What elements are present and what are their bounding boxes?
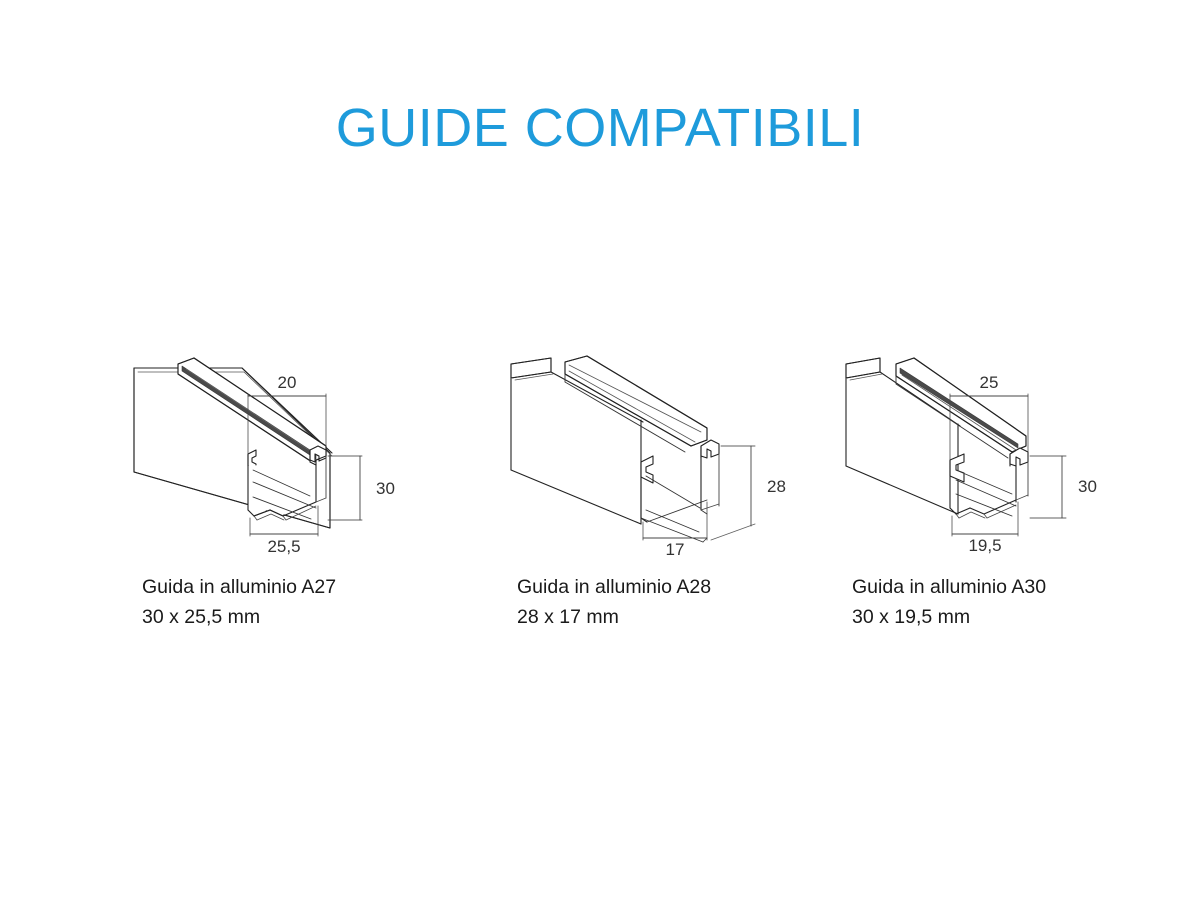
dimension-height-a30: [1030, 456, 1066, 518]
dimension-width-a28: [643, 502, 707, 540]
dimension-label-top-a27: 20: [278, 373, 297, 392]
product-name-a28: Guida in alluminio A28: [517, 572, 857, 602]
dimension-width-a30: [952, 502, 1018, 536]
dimension-label-height-a28: 28: [767, 477, 786, 496]
product-name-a27: Guida in alluminio A27: [142, 572, 482, 602]
dimension-label-height-a30: 30: [1078, 477, 1097, 496]
product-caption-a28: Guida in alluminio A28 28 x 17 mm: [517, 572, 857, 632]
dimension-label-width-a27: 25,5: [267, 537, 300, 555]
product-item-a28: 28 17 Guida in alluminio A28 28 x 17 mm: [495, 350, 855, 650]
profile-drawing-a30: 25 30 19,5: [830, 350, 1190, 550]
product-caption-a27: Guida in alluminio A27 30 x 25,5 mm: [142, 572, 482, 632]
product-item-a27: 20 30 25,5: [120, 350, 480, 650]
dimension-label-height-a27: 30: [376, 479, 395, 498]
channel-body-a30: [950, 448, 1028, 518]
dimension-height-a28: [711, 446, 755, 540]
product-caption-a30: Guida in alluminio A30 30 x 19,5 mm: [852, 572, 1192, 632]
product-list: 20 30 25,5: [0, 350, 1200, 650]
product-size-a27: 30 x 25,5 mm: [142, 602, 482, 632]
profile-drawing-a27: 20 30 25,5: [120, 350, 480, 550]
isometric-profile-a30: 25 30 19,5: [830, 350, 1190, 555]
profile-drawing-a28: 28 17: [495, 350, 855, 550]
isometric-profile-a28: 28 17: [495, 350, 855, 555]
page-title: GUIDE COMPATIBILI: [0, 100, 1200, 157]
product-item-a30: 25 30 19,5: [830, 350, 1190, 650]
slide-root: GUIDE COMPATIBILI: [0, 0, 1200, 900]
dimension-label-width-a30: 19,5: [968, 536, 1001, 555]
product-name-a30: Guida in alluminio A30: [852, 572, 1192, 602]
product-size-a28: 28 x 17 mm: [517, 602, 857, 632]
dimension-height-a27: [328, 456, 362, 520]
dimension-label-top-a30: 25: [980, 373, 999, 392]
dimension-label-width-a28: 17: [666, 540, 685, 555]
isometric-profile-a27: 20 30 25,5: [120, 350, 480, 555]
product-size-a30: 30 x 19,5 mm: [852, 602, 1192, 632]
